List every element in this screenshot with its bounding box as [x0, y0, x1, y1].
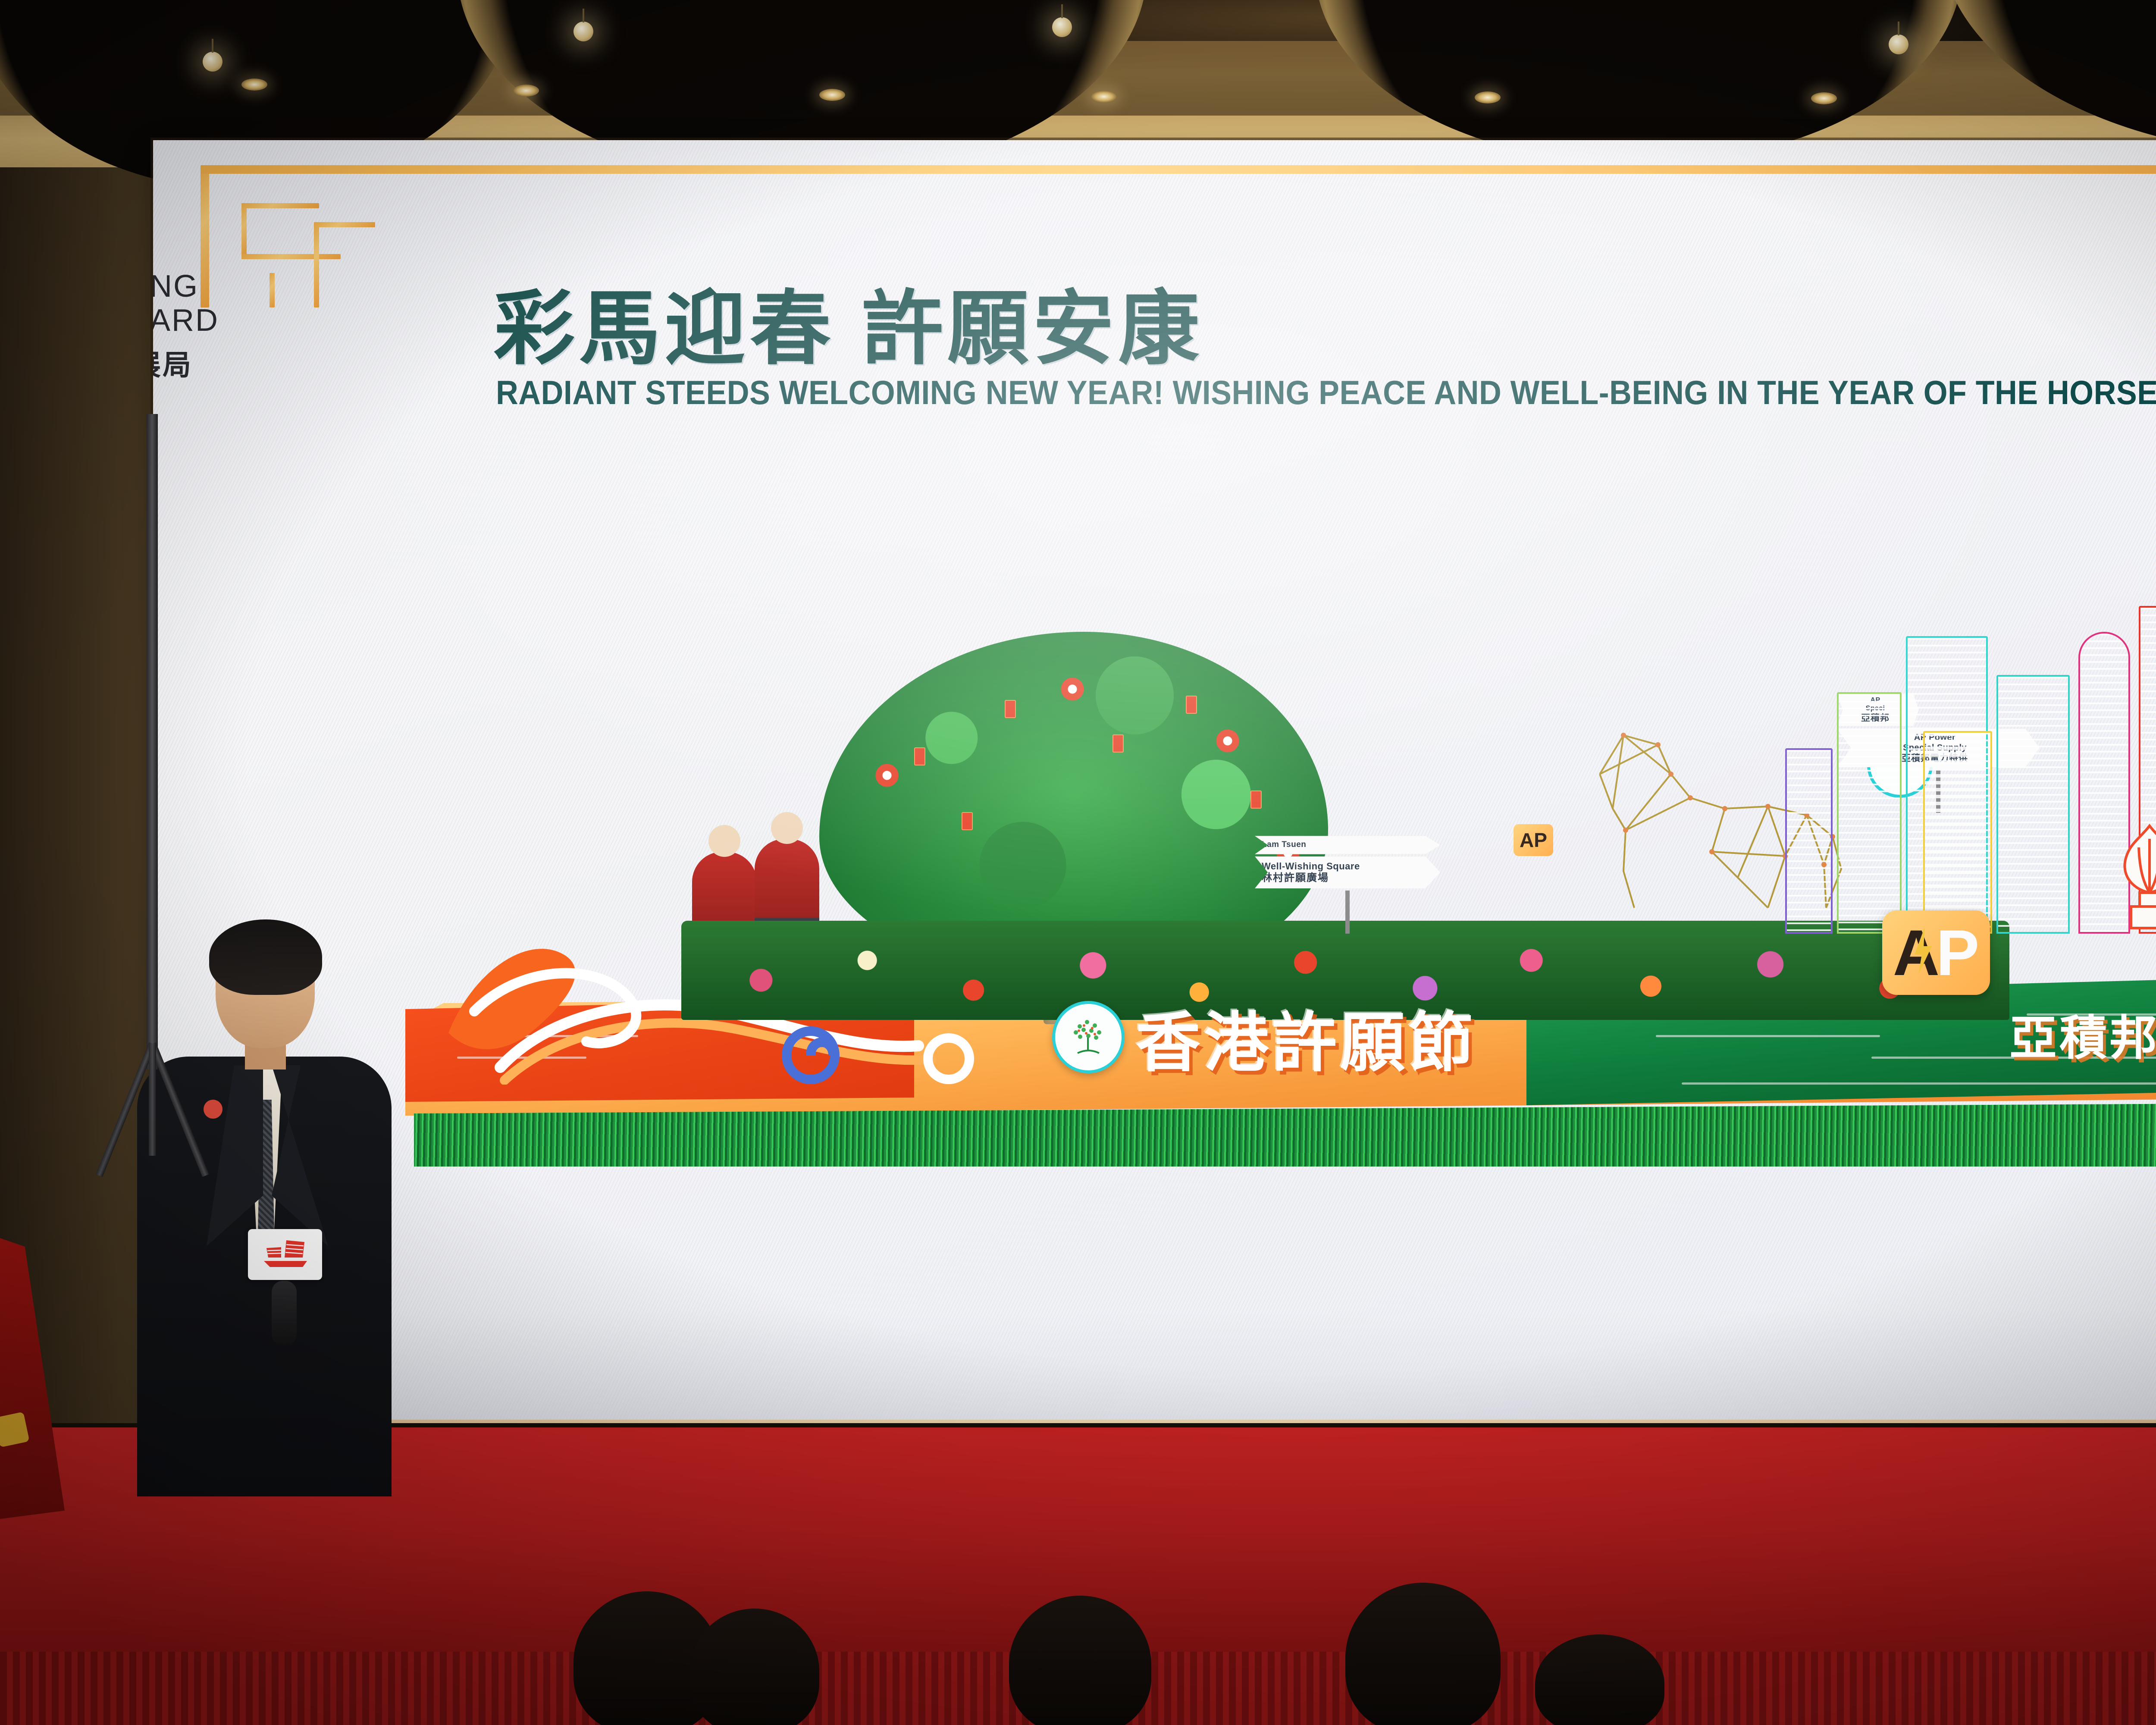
circuit-trace: [457, 1057, 586, 1059]
skyline-building-ifc: [1996, 675, 2070, 934]
float-banner: 香港許願節: [1052, 994, 1725, 1080]
audience-head: [690, 1609, 819, 1725]
lai-see-packet: [1005, 700, 1016, 718]
fret-rule-top: [201, 165, 2156, 174]
bauhinia-sculpture-icon: [2109, 817, 2156, 929]
projection-screen: KONG BOARD 發展局: [153, 140, 2156, 1453]
lai-see-packet: [1112, 734, 1124, 753]
parade-float-artwork: AP Lam Tsuen Well-Wishing Square 林村許願廣場 …: [405, 567, 2156, 1167]
downlight-5: [1475, 91, 1501, 103]
lai-see-packet: [914, 747, 925, 765]
float-banner-logo-badge: [1052, 1001, 1125, 1073]
audience-head: [1345, 1583, 1501, 1725]
downlight-4: [1091, 91, 1117, 103]
float-sponsor-text: 亞積邦電力: [2009, 999, 2156, 1068]
signpost-line-top: Lam Tsuen: [1262, 840, 1426, 850]
signpost-line-mid: Well-Wishing Square: [1262, 861, 1426, 872]
pendant-light-3: [1052, 17, 1072, 37]
microphone-stand: [147, 414, 158, 1069]
speaker-lapel-flower: [204, 1100, 222, 1119]
mic-tripod-leg-3: [149, 1044, 156, 1156]
downlight-1: [241, 78, 267, 91]
tree-flower: [1061, 677, 1084, 701]
hktb-logo-line-cn: 發展局: [153, 342, 244, 383]
lam-tsuen-signpost: Lam Tsuen Well-Wishing Square 林村許願廣場: [1255, 836, 1440, 934]
circuit-trace: [457, 1035, 638, 1037]
circuit-trace: [1682, 1082, 2156, 1085]
audience-head: [1009, 1596, 1151, 1725]
skyline-building: [1837, 692, 1902, 934]
signpost-plate-main: Well-Wishing Square 林村許願廣場: [1255, 856, 1440, 888]
ap-badge-letter-p: P: [1936, 920, 1979, 985]
downlight-6: [1811, 92, 1837, 104]
banner-crest-icon: [0, 1411, 30, 1447]
tree-flower: [1216, 729, 1239, 753]
ap-power-logo-badge: A P: [1882, 910, 1990, 995]
signpost-pole: [1345, 891, 1350, 934]
wishing-tree-badge-icon: [1065, 1013, 1112, 1061]
pendant-light-2: [573, 22, 593, 41]
skyline-building: [1785, 748, 1833, 934]
speaker-person: [129, 927, 397, 1496]
downlight-3: [819, 89, 845, 101]
signpost-plate-top: Lam Tsuen: [1255, 836, 1440, 854]
hktb-logo-line2: BOARD: [153, 304, 244, 338]
slide-title-en: RADIANT STEEDS WELCOMING NEW YEAR! WISHI…: [496, 373, 2156, 412]
lai-see-packet: [1250, 790, 1262, 809]
pendant-light-4: [1889, 34, 1908, 54]
hktb-logo: KONG BOARD 發展局: [153, 270, 244, 383]
lai-see-packet: [962, 812, 973, 830]
lai-see-packet: [1186, 696, 1197, 714]
slide-title-cn: 彩馬迎春 許願安康: [494, 263, 1203, 380]
hktb-logo-line1: KONG: [153, 270, 244, 304]
float-banner-text: 香港許願節: [1136, 991, 1476, 1084]
skyline-building: [1923, 731, 1992, 934]
signpost-line-cn: 林村許願廣場: [1262, 872, 1426, 884]
hong-kong-skyline-sculpture: [1781, 615, 2156, 934]
microphone-flag: [248, 1229, 322, 1280]
pendant-light-1: [203, 52, 222, 72]
tree-flower: [875, 764, 899, 787]
speaker-hair: [209, 919, 322, 995]
float-small-ap-badge: AP: [1514, 824, 1553, 856]
microphone-head: [272, 1281, 297, 1345]
hktb-junk-sail-icon: [260, 1239, 310, 1270]
downlight-2: [513, 85, 539, 97]
